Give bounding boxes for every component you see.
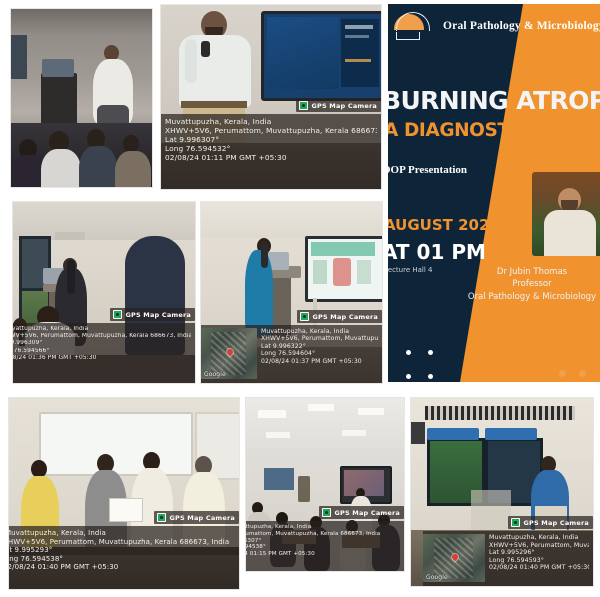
gps-map-camera-icon (113, 310, 122, 319)
gps-timestamp: 02/08/24 01:36 PM GMT +05:30 (12, 355, 191, 362)
gps-badge-label: GPS Map Camera (334, 509, 400, 517)
gps-place: Muvattupuzha, Kerala, India (165, 117, 377, 126)
gps-overlay: Muvattupuzha, Kerala, India XHWV+5V6, Pe… (9, 526, 239, 589)
gps-place: Muvattupuzha, Kerala, India (245, 524, 400, 531)
speaker-block: Dr Jubin Thomas Professor Oral Pathology… (462, 266, 600, 303)
gps-badge-label: GPS Map Camera (125, 311, 191, 319)
photo-middle-left[interactable]: GPS Map Camera Muvattupuzha, Kerala, Ind… (12, 201, 196, 384)
gps-timestamp: 02/08/24 01:40 PM GMT +05:30 (8, 563, 235, 572)
poster-title-line1: BURNING ATROPHIC TONGUE (388, 86, 600, 115)
gps-latitude: Lat 9.996307° (245, 538, 400, 545)
poster-dot-2 (428, 350, 433, 355)
gps-latitude: Lat 9.996309° (12, 340, 191, 347)
gps-badge-label: GPS Map Camera (169, 514, 235, 522)
gps-badge-label: GPS Map Camera (312, 313, 378, 321)
poster-time: AT 01 PM (388, 240, 486, 264)
gps-longitude: Long 76.594532° (165, 144, 377, 153)
location-pin-icon (450, 553, 458, 561)
photo-bottom-center[interactable]: GPS Map Camera Muvattupuzha, Kerala, Ind… (245, 397, 405, 572)
speaker-headshot (532, 172, 600, 256)
gps-latitude: Lat 9.995293° (8, 546, 235, 555)
gps-badge-label: GPS Map Camera (523, 519, 589, 527)
map-thumbnail[interactable]: Google (201, 328, 257, 379)
poster-subtitle: OOP Presentation (388, 164, 467, 176)
gps-address: XHWV+5V6, Perumattom, Muvattupuzha, Kera… (165, 126, 377, 135)
gps-longitude: Long 76.594538° (245, 544, 400, 551)
gps-map-camera-badge: GPS Map Camera (154, 511, 239, 524)
gps-timestamp: 02/08/24 01:40 PM GMT +05:30 (489, 564, 589, 572)
poster-title-line2: A DIAGNOSTIC DILEMMA (388, 120, 600, 141)
gps-map-camera-icon (511, 518, 520, 527)
gps-longitude: Long 76.594593° (489, 557, 589, 565)
gps-map-camera-badge: GPS Map Camera (297, 310, 382, 323)
photo-top-center[interactable]: GPS Map Camera Muvattupuzha, Kerala, Ind… (160, 4, 382, 190)
gps-address: XHWV+5V6, Perumattom, Muvattupuzha, Kera… (8, 538, 235, 547)
poster-venue: Lecture Hall 4 (388, 266, 433, 274)
gps-place: Muvattupuzha, Kerala, India (261, 328, 378, 335)
poster-dot-3 (406, 374, 411, 379)
gps-place: Muvattupuzha, Kerala, India (12, 326, 191, 333)
gps-overlay: Google Muvattupuzha, Kerala, India XHWV+… (201, 325, 382, 383)
google-attribution: Google (426, 574, 448, 581)
gps-overlay: Google Muvattupuzha, Kerala, India XHWV+… (423, 531, 593, 586)
gps-address: XHWV+5V6, Perumattom, Muvattupuzha, Kera… (261, 335, 378, 342)
poster-date: AUGUST 2024 (388, 216, 500, 234)
gps-map-camera-icon (322, 508, 331, 517)
google-attribution: Google (204, 371, 226, 378)
gps-longitude: Long 76.594604° (261, 350, 378, 357)
gps-address: Perumattom, Muvattupuzha, Kerala 686673,… (245, 531, 400, 538)
gps-latitude: Lat 9.996307° (165, 135, 377, 144)
poster-department: Oral Pathology & Microbiology (443, 20, 600, 32)
gps-overlay: Muvattupuzha, Kerala, India XHWV+5V6, Pe… (161, 114, 381, 189)
location-pin-icon (226, 348, 234, 356)
gps-longitude: Long 76.594538° (8, 555, 235, 564)
poster-dot-4 (428, 374, 433, 379)
poster-dot-6 (579, 370, 586, 377)
gps-timestamp: 02/08/24 01:11 PM GMT +05:30 (165, 153, 377, 162)
gps-place: Muvattupuzha, Kerala, India (489, 534, 589, 542)
gps-map-camera-badge: GPS Map Camera (296, 99, 381, 112)
speaker-role: Professor (462, 278, 600, 290)
poster-dot-1 (406, 350, 411, 355)
poster-arc-logo-icon (394, 14, 428, 38)
gps-badge-label: GPS Map Camera (311, 102, 377, 110)
photo-bottom-left[interactable]: GPS Map Camera Muvattupuzha, Kerala, Ind… (8, 397, 240, 590)
gps-map-camera-badge: GPS Map Camera (110, 308, 195, 321)
speaker-dept: Oral Pathology & Microbiology (462, 291, 600, 303)
gps-timestamp: 02/08/24 01:37 PM GMT +05:30 (261, 358, 378, 365)
gps-latitude: Lat 9.995296° (489, 549, 589, 557)
lecture-scene (11, 9, 152, 187)
gps-latitude: Lat 9.996322° (261, 343, 378, 350)
gps-map-camera-badge: GPS Map Camera (319, 506, 404, 519)
photo-top-left[interactable] (10, 8, 153, 188)
speaker-name: Dr Jubin Thomas (462, 266, 600, 278)
photo-collage: GPS Map Camera Muvattupuzha, Kerala, Ind… (0, 0, 600, 597)
gps-map-camera-icon (157, 513, 166, 522)
map-thumbnail[interactable]: Google (423, 534, 485, 582)
event-poster[interactable]: Oral Pathology & Microbiology BURNING AT… (388, 4, 600, 382)
photo-bottom-right[interactable]: GPS Map Camera Google Muvattupuzha, Kera… (410, 397, 594, 587)
gps-map-camera-icon (299, 101, 308, 110)
gps-timestamp: 02/08/24 01:15 PM GMT +05:30 (245, 551, 400, 558)
gps-longitude: Long 76.594566° (12, 348, 191, 355)
photo-middle-center[interactable]: GPS Map Camera Google Muvattupuzha, Kera… (200, 201, 383, 384)
gps-overlay: Muvattupuzha, Kerala, India Perumattom, … (246, 521, 404, 571)
gps-address: XHWV+5V6, Perumattom, Muvattupuzha, Kera… (12, 333, 191, 340)
gps-address: XHWV+5V6, Perumattom, Muvattupuzha (489, 542, 589, 550)
poster-dot-5 (559, 370, 566, 377)
gps-map-camera-icon (300, 312, 309, 321)
gps-map-camera-badge: GPS Map Camera (508, 516, 593, 529)
gps-place: Muvattupuzha, Kerala, India (8, 529, 235, 538)
gps-overlay: Muvattupuzha, Kerala, India XHWV+5V6, Pe… (13, 323, 195, 383)
poster-title-line1-main: BURNING ATROPHIC TO (388, 86, 600, 115)
